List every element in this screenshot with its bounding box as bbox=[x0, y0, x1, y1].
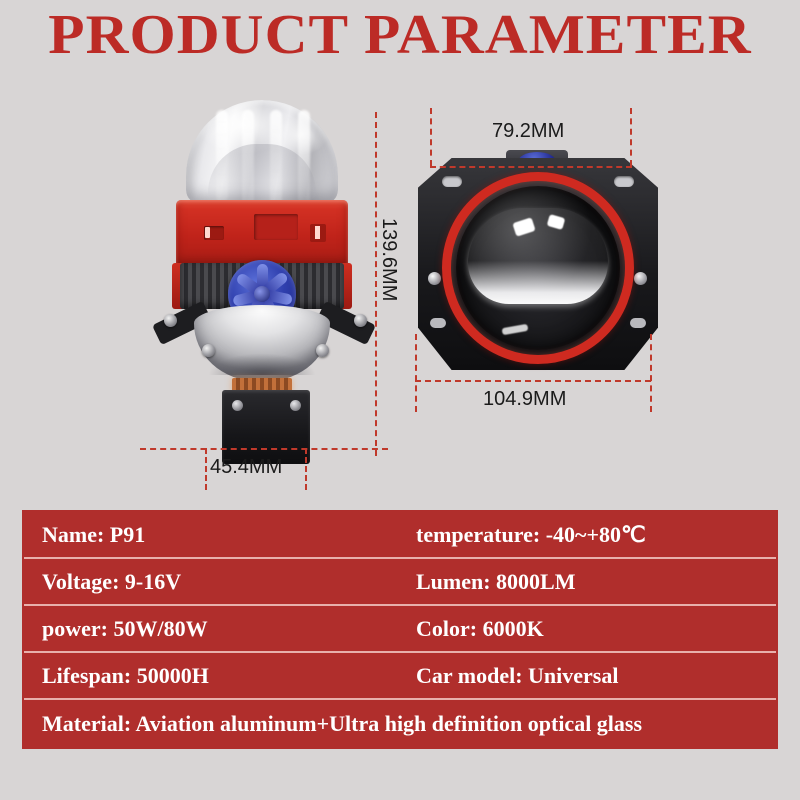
red-ring-bezel-icon bbox=[442, 172, 634, 364]
dimension-label-lens-width: 104.9MM bbox=[483, 388, 566, 411]
table-row: Voltage: 9-16V Lumen: 8000LM bbox=[24, 559, 776, 606]
base-screw-left bbox=[232, 400, 243, 411]
guide-line-depth-top bbox=[140, 448, 388, 450]
dimension-label-lens-height: 79.2MM bbox=[492, 120, 564, 143]
spec-table: Name: P91 temperature: -40~+80℃ Voltage:… bbox=[22, 510, 778, 749]
product-image-stage: 139.6MM 45.4MM 79.2MM 104.9MM bbox=[0, 78, 800, 498]
bracket-slot-lower-left bbox=[430, 318, 446, 328]
guide-line-lensheight-right bbox=[630, 108, 632, 166]
spec-car-model: Car model: Universal bbox=[398, 663, 776, 689]
spec-lumen: Lumen: 8000LM bbox=[398, 569, 776, 595]
bracket-screw-left bbox=[428, 272, 441, 285]
guide-line-depth-left bbox=[205, 448, 207, 490]
spec-material: Material: Aviation aluminum+Ultra high d… bbox=[24, 711, 776, 737]
spec-voltage: Voltage: 9-16V bbox=[24, 569, 398, 595]
guide-line-lenswidth-right bbox=[650, 334, 652, 412]
red-housing-icon bbox=[176, 200, 348, 266]
spec-temperature: temperature: -40~+80℃ bbox=[398, 522, 776, 548]
guide-line-lenswidth-left bbox=[415, 334, 417, 412]
table-row: power: 50W/80W Color: 6000K bbox=[24, 606, 776, 653]
table-row: Lifespan: 50000H Car model: Universal bbox=[24, 653, 776, 700]
bolt-icon bbox=[316, 344, 329, 357]
page-title: PRODUCT PARAMETER bbox=[0, 4, 800, 66]
product-left-three-quarter-view bbox=[150, 100, 380, 460]
bolt-icon bbox=[354, 314, 367, 327]
spec-lifespan: Lifespan: 50000H bbox=[24, 663, 398, 689]
bracket-slot-right bbox=[614, 176, 634, 187]
table-row: Name: P91 temperature: -40~+80℃ bbox=[24, 512, 776, 559]
bracket-slot-lower-right bbox=[630, 318, 646, 328]
dimension-label-depth: 45.4MM bbox=[210, 456, 282, 479]
spec-name: Name: P91 bbox=[24, 522, 398, 548]
silver-reflector-icon bbox=[194, 305, 330, 381]
bracket-slot-left bbox=[442, 176, 462, 187]
spec-color: Color: 6000K bbox=[398, 616, 776, 642]
dimension-label-height: 139.6MM bbox=[377, 218, 400, 301]
product-right-front-view bbox=[418, 150, 658, 378]
bracket-screw-right bbox=[634, 272, 647, 285]
base-screw-right bbox=[290, 400, 301, 411]
guide-line-lenswidth-span bbox=[415, 380, 651, 382]
guide-line-depth-right bbox=[305, 448, 307, 490]
bolt-icon bbox=[164, 314, 177, 327]
clear-dome-lens-icon bbox=[186, 100, 338, 204]
guide-line-lensheight-span bbox=[430, 166, 632, 168]
guide-line-lensheight-left bbox=[430, 108, 432, 166]
bolt-icon bbox=[202, 344, 215, 357]
spec-power: power: 50W/80W bbox=[24, 616, 398, 642]
table-row: Material: Aviation aluminum+Ultra high d… bbox=[24, 700, 776, 747]
